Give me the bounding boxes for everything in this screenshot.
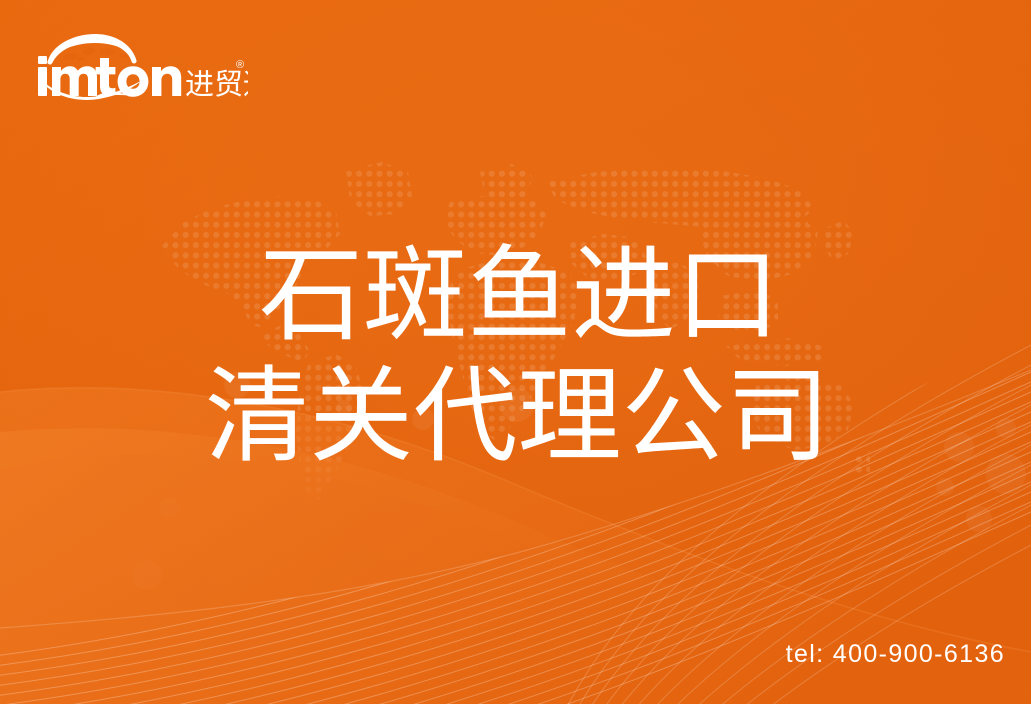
page-title-line-2: 清关代理公司: [4, 357, 1031, 478]
logo-chinese-name: 进贸通: [185, 68, 248, 101]
page-title-line-1: 石斑鱼进口: [8, 236, 1031, 357]
contact-telephone[interactable]: tel: 400-900-6136: [786, 640, 1005, 669]
logo-wordmark: [38, 56, 181, 97]
company-logo-svg: 进贸通 ®: [33, 32, 248, 102]
globe-arc-icon: [47, 34, 137, 64]
company-logo[interactable]: 进贸通 ®: [33, 32, 248, 102]
page-title: 石斑鱼进口 清关代理公司: [0, 236, 1031, 477]
poster-canvas: 进贸通 ® 石斑鱼进口 清关代理公司 tel: 400-900-6136: [0, 0, 1031, 704]
registered-mark-icon: ®: [236, 59, 244, 71]
